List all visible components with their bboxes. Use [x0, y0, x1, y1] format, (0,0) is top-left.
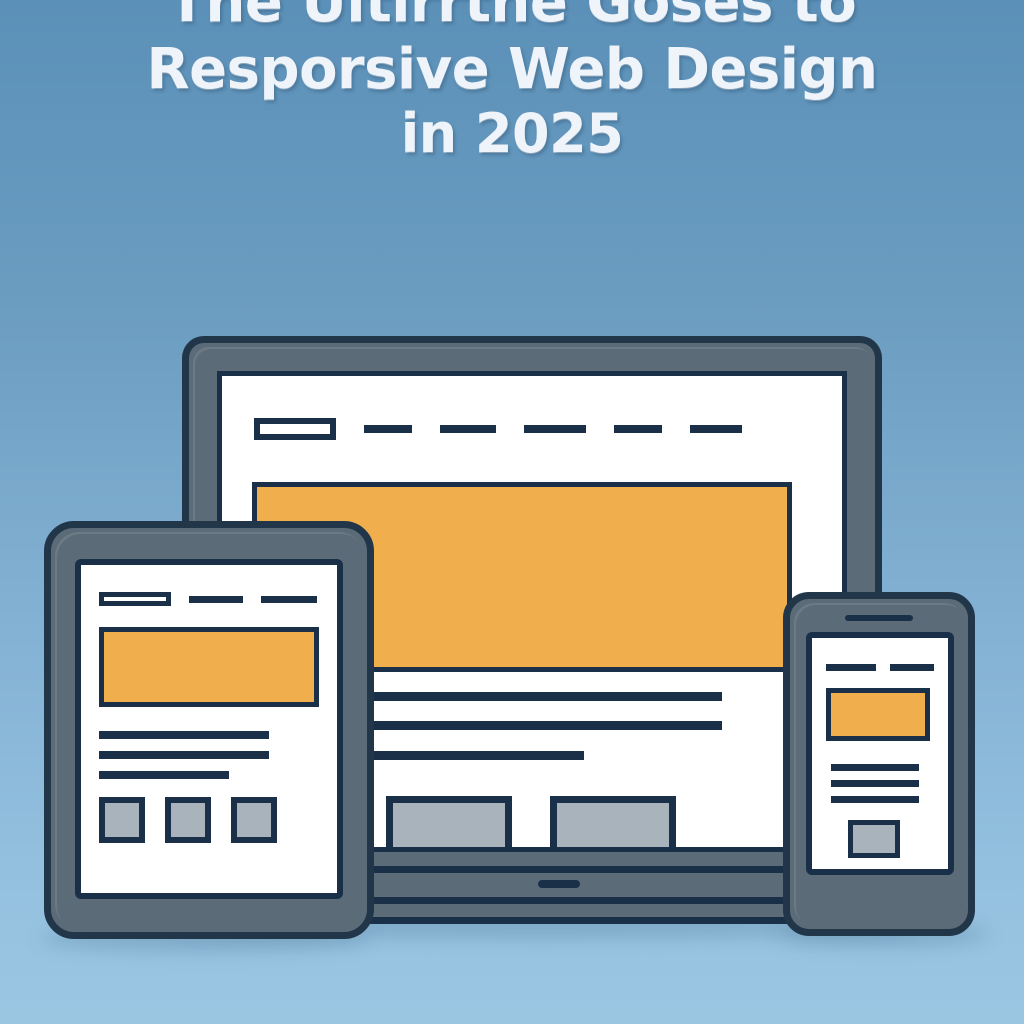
laptop-card-3[interactable]: [550, 796, 676, 852]
title-line-1: The Ultirrthe Goses to: [0, 0, 1024, 31]
laptop-nav-link-4[interactable]: [614, 425, 662, 433]
phone-text-line-2: [831, 780, 919, 787]
device-tablet[interactable]: [44, 521, 374, 939]
title-line-2: Resporsive Web Design: [0, 41, 1024, 98]
laptop-card-2[interactable]: [386, 796, 512, 852]
tablet-screen[interactable]: [75, 559, 343, 899]
tablet-nav-bar: [99, 589, 323, 609]
phone-nav-bar: [826, 664, 934, 671]
tablet-card-row: [99, 797, 277, 843]
phone-card-1[interactable]: [848, 820, 900, 858]
laptop-base-foot-2: [538, 880, 580, 888]
laptop-nav-link-3[interactable]: [524, 425, 586, 433]
tablet-logo-box[interactable]: [99, 592, 171, 606]
laptop-logo-box[interactable]: [254, 418, 336, 440]
laptop-nav-link-5[interactable]: [690, 425, 742, 433]
tablet-text-line-2: [99, 751, 269, 759]
tablet-text-line-1: [99, 731, 269, 739]
tablet-hero-banner: [99, 627, 319, 707]
tablet-card-2[interactable]: [165, 797, 211, 843]
phone-speaker-icon: [845, 615, 913, 621]
tablet-card-1[interactable]: [99, 797, 145, 843]
tablet-card-3[interactable]: [231, 797, 277, 843]
phone-screen[interactable]: [806, 632, 954, 875]
tablet-body: [44, 521, 374, 939]
phone-text-line-3: [831, 796, 919, 803]
poster-title: The Ultirrthe Goses to Resporsive Web De…: [0, 0, 1024, 161]
tablet-text-line-3: [99, 771, 229, 779]
tablet-nav-link-1[interactable]: [189, 596, 243, 603]
phone-nav-link-1[interactable]: [826, 664, 876, 671]
phone-nav-link-2[interactable]: [890, 664, 934, 671]
laptop-nav-link-1[interactable]: [364, 425, 412, 433]
laptop-nav-bar: [254, 416, 812, 442]
laptop-nav-link-2[interactable]: [440, 425, 496, 433]
phone-body: [783, 592, 975, 936]
phone-text-line-1: [831, 764, 919, 771]
device-phone[interactable]: [783, 592, 975, 936]
title-line-3: in 2025: [0, 106, 1024, 161]
tablet-nav-link-2[interactable]: [261, 596, 317, 603]
phone-hero-banner: [826, 688, 930, 741]
